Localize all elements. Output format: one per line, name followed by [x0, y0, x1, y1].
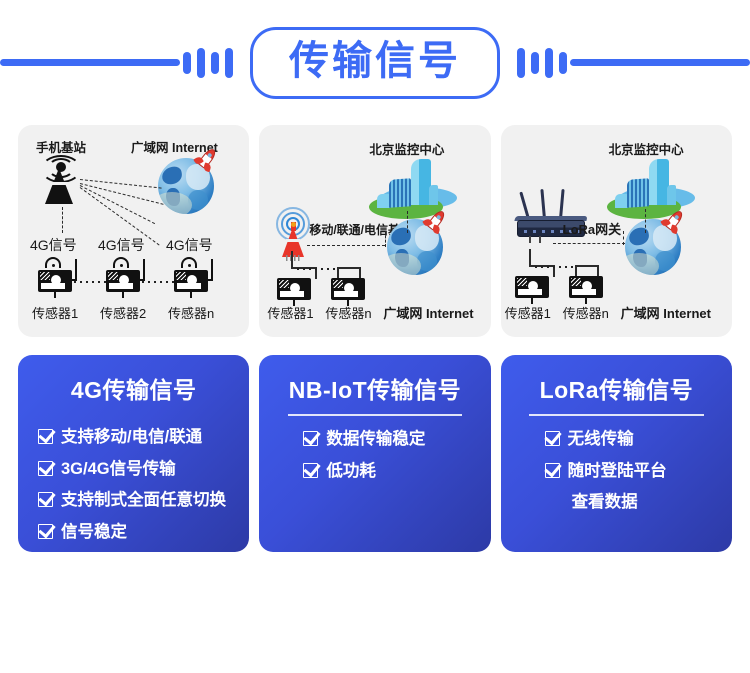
diagram-card-lora: 北京监控中心 LoRa网关	[501, 125, 732, 337]
link-city-internet	[645, 209, 646, 233]
feature-item: 数据传输稳定	[303, 427, 476, 453]
label-internet: 广域网 Internet	[621, 303, 711, 322]
check-icon	[38, 524, 53, 539]
link-dashed	[623, 231, 624, 245]
label-internet: 广域网 Internet	[383, 303, 473, 322]
feature-row: 4G传输信号 支持移动/电信/联通 3G/4G信号传输 支持制式全面任意切换 信…	[0, 337, 750, 552]
page-title-box: 传输信号	[250, 27, 500, 99]
feature-item: 低功耗	[303, 459, 476, 485]
label-base-station: 手机基站	[36, 137, 86, 156]
divider	[288, 414, 463, 416]
feature-item-label: 信号稳定	[61, 520, 127, 546]
deco-bar-icon	[517, 48, 525, 78]
sensor-icon	[106, 257, 140, 297]
deco-bar-icon	[211, 52, 219, 74]
page-title: 传输信号	[289, 40, 461, 82]
feature-list: 无线传输 随时登陆平台 查看数据	[515, 427, 718, 522]
page-header: 传输信号	[0, 0, 750, 125]
check-icon	[303, 463, 318, 478]
feature-list: 数据传输稳定 低功耗	[273, 427, 476, 490]
check-icon	[38, 429, 53, 444]
label-sensor-2: 传感器2	[100, 303, 146, 322]
feature-title: NB-IoT传输信号	[289, 371, 461, 405]
city-icon	[605, 157, 697, 221]
deco-bar-icon	[559, 52, 567, 74]
feature-item-label: 无线传输	[568, 427, 634, 453]
label-gateway: LoRa网关	[563, 219, 622, 238]
feature-item-label: 数据传输稳定	[326, 427, 425, 453]
feature-item-label: 查看数据	[572, 490, 638, 516]
cell-tower-red-icon	[273, 213, 313, 261]
check-icon	[545, 463, 560, 478]
feature-title: 4G传输信号	[71, 371, 197, 405]
sensor-icon	[331, 265, 365, 305]
check-icon	[38, 492, 53, 507]
label-control-center: 北京监控中心	[609, 139, 684, 158]
header-decoration-left	[0, 48, 236, 78]
feature-item: 支持制式全面任意切换	[38, 488, 235, 514]
deco-bar-icon	[183, 52, 191, 74]
label-sensor-1: 传感器1	[505, 303, 551, 322]
diagram-card-4g: 手机基站 广域网 Internet 4G信号 4G信号 4G信号	[18, 125, 249, 337]
sensor-icon	[174, 257, 208, 297]
deco-bar-icon	[545, 48, 553, 78]
feature-item: 无线传输	[545, 427, 718, 453]
sensor-icon	[569, 263, 603, 303]
deco-line-left	[0, 59, 180, 66]
feature-item-label: 3G/4G信号传输	[61, 457, 176, 483]
check-icon	[38, 461, 53, 476]
feature-item: 支持移动/电信/联通	[38, 425, 235, 451]
link-sensor-chain	[74, 281, 106, 283]
check-icon	[545, 431, 560, 446]
label-signal-2: 4G信号	[98, 235, 145, 255]
feature-item-label: 低功耗	[326, 459, 376, 485]
label-sensor-1: 传感器1	[267, 303, 313, 322]
feature-item: 信号稳定	[38, 520, 235, 546]
label-sensor-n: 传感器n	[563, 303, 609, 322]
deco-bar-icon	[197, 48, 205, 78]
label-control-center: 北京监控中心	[369, 139, 444, 158]
diagram-row: 手机基站 广域网 Internet 4G信号 4G信号 4G信号	[0, 125, 750, 337]
diagram-card-nbiot: 北京监控中心 移动/联通/电信基站	[259, 125, 490, 337]
feature-item: 随时登陆平台	[545, 459, 718, 485]
link-city-internet	[407, 211, 408, 233]
link-tower-sensor1	[62, 207, 63, 233]
header-decoration-right	[514, 48, 750, 78]
deco-line-right	[570, 59, 750, 66]
feature-item-label: 随时登陆平台	[568, 459, 667, 485]
feature-list: 支持移动/电信/联通 3G/4G信号传输 支持制式全面任意切换 信号稳定	[32, 425, 235, 551]
feature-item-label: 支持移动/电信/联通	[61, 425, 202, 451]
label-sensor-n: 传感器n	[168, 303, 214, 322]
feature-title: LoRa传输信号	[540, 371, 694, 405]
deco-bar-icon	[531, 52, 539, 74]
feature-item-label: 支持制式全面任意切换	[61, 488, 226, 514]
feature-item: 3G/4G信号传输	[38, 457, 235, 483]
link-gateway-internet	[553, 243, 625, 244]
label-sensor-1: 传感器1	[32, 303, 78, 322]
feature-card-4g[interactable]: 4G传输信号 支持移动/电信/联通 3G/4G信号传输 支持制式全面任意切换 信…	[18, 355, 249, 552]
link-sensor-chain	[142, 281, 174, 283]
city-icon	[367, 157, 459, 221]
link-dashed	[385, 231, 386, 247]
feature-card-nbiot[interactable]: NB-IoT传输信号 数据传输稳定 低功耗	[259, 355, 490, 552]
feature-item: 查看数据	[545, 490, 718, 516]
link-tower-internet	[307, 245, 385, 246]
divider	[529, 414, 704, 416]
check-icon	[303, 431, 318, 446]
label-sensor-n: 传感器n	[325, 303, 371, 322]
sensor-icon	[515, 263, 549, 303]
label-signal-3: 4G信号	[166, 235, 213, 255]
deco-bar-icon	[225, 48, 233, 78]
feature-card-lora[interactable]: LoRa传输信号 无线传输 随时登陆平台 查看数据	[501, 355, 732, 552]
sensor-icon	[277, 265, 311, 305]
label-signal-1: 4G信号	[30, 235, 77, 255]
sensor-icon	[38, 257, 72, 297]
